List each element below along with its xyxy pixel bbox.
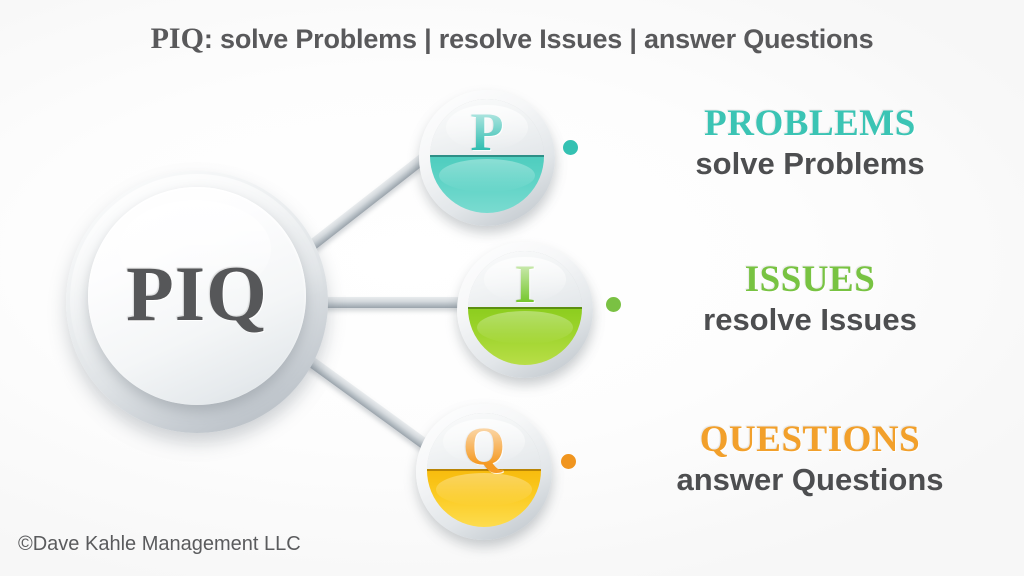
- heading-questions: QUESTIONS: [600, 420, 1020, 460]
- title-acronym: PIQ: [151, 22, 204, 55]
- hub-face: PIQ: [88, 187, 306, 405]
- subtitle-issues: resolve Issues: [610, 302, 1010, 338]
- hub-label: PIQ: [88, 187, 306, 405]
- text-block-problems: PROBLEMS solve Problems: [610, 104, 1010, 182]
- bullet-dot-problems: [563, 140, 578, 155]
- copyright-notice: ©Dave Kahle Management LLC: [18, 533, 301, 556]
- infographic-canvas: PIQ: solve Problems | resolve Issues | a…: [0, 0, 1024, 576]
- hub-node[interactable]: PIQ: [66, 171, 328, 433]
- bullet-dot-questions: [561, 454, 576, 469]
- node-questions[interactable]: Q: [416, 404, 552, 540]
- node-issues[interactable]: I: [457, 242, 593, 378]
- node-face: I: [468, 251, 582, 365]
- text-block-questions: QUESTIONS answer Questions: [600, 420, 1020, 498]
- subtitle-problems: solve Problems: [610, 146, 1010, 182]
- text-block-issues: ISSUES resolve Issues: [610, 260, 1010, 338]
- title-rest: : solve Problems | resolve Issues | answ…: [204, 24, 874, 54]
- node-letter-p: P: [430, 99, 544, 213]
- heading-issues: ISSUES: [610, 260, 1010, 300]
- subtitle-questions: answer Questions: [600, 462, 1020, 498]
- node-face: Q: [427, 413, 541, 527]
- heading-problems: PROBLEMS: [610, 104, 1010, 144]
- node-face: P: [430, 99, 544, 213]
- page-title: PIQ: solve Problems | resolve Issues | a…: [0, 22, 1024, 56]
- node-letter-q: Q: [427, 413, 541, 527]
- node-letter-i: I: [468, 251, 582, 365]
- node-problems[interactable]: P: [419, 90, 555, 226]
